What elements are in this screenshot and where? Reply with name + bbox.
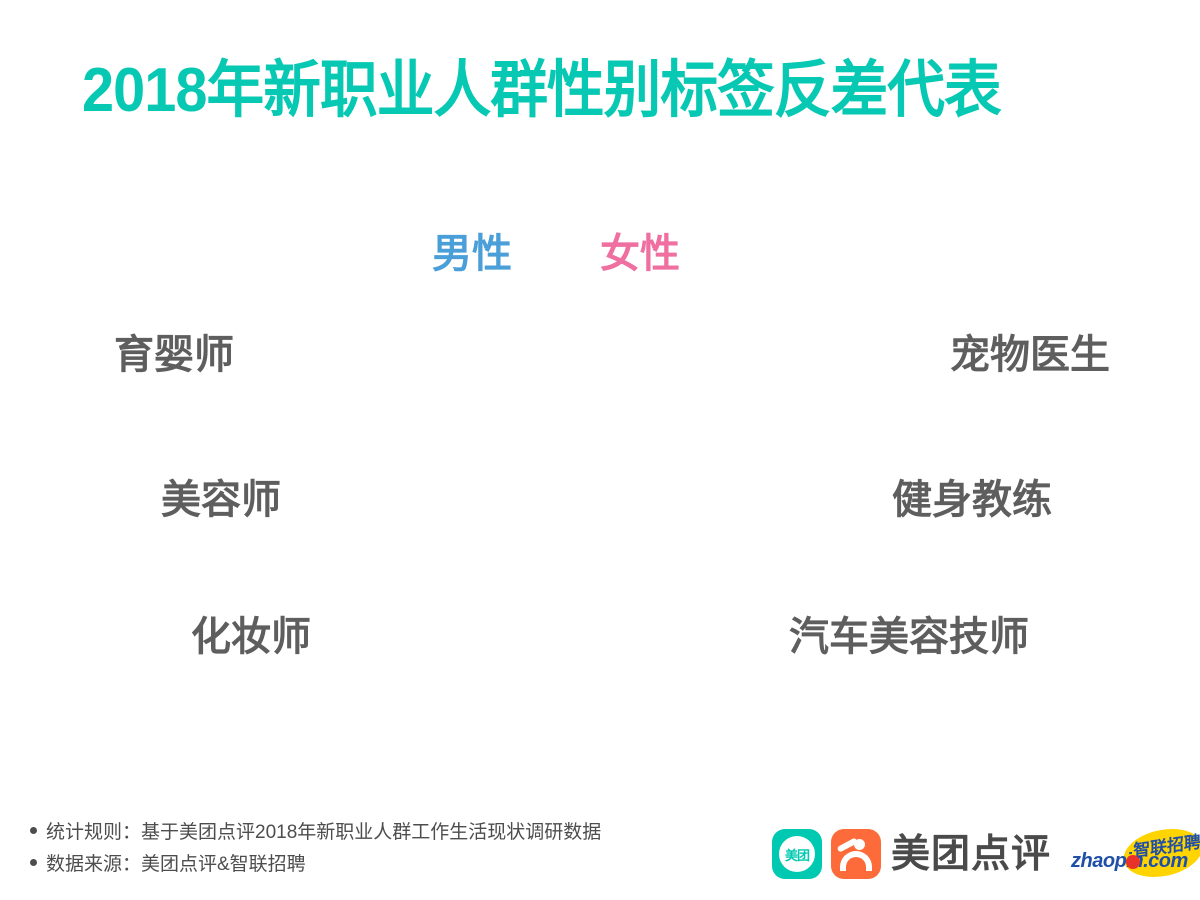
row-label-right-2: 健身教练: [892, 480, 1052, 520]
bar-value-left-2: 29.02%: [293, 482, 419, 519]
footnote-text: 统计规则：基于美团点评2018年新职业人群工作生活现状调研数据: [46, 823, 601, 842]
dianping-logo-icon: [831, 829, 881, 879]
row-label-left-2: 美容师: [161, 480, 281, 520]
chart-row: 26.19% 23.08% 化妆师 汽车美容技师: [315, 587, 783, 687]
bar-value-right-3: 23.08%: [648, 619, 774, 656]
footnote-text: 数据来源：美团点评&智联招聘: [46, 855, 306, 874]
meituan-dianping-wordmark: 美团点评: [891, 835, 1051, 874]
logo-group: 美团 美团点评 智联招聘 zhaopin.com: [772, 822, 1200, 886]
bar-value-right-2: 37.5%: [771, 482, 876, 519]
bar-divider-2: [563, 452, 569, 548]
footnote-item: 统计规则：基于美团点评2018年新职业人群工作生活现状调研数据: [30, 823, 750, 842]
row-label-right-1: 宠物医生: [950, 335, 1110, 375]
chart-rows: 33.33% 42.86% 育婴师 宠物医生 29.02% 37.5% 美容师 …: [0, 0, 1200, 900]
chart-row: 33.33% 42.86% 育婴师 宠物医生: [238, 305, 944, 405]
row-label-right-3: 汽车美容技师: [789, 617, 1029, 657]
infographic-canvas: 2018年新职业人群性别标签反差代表 男性 女性 33.33% 42.86% 育…: [0, 0, 1200, 900]
meituan-logo-icon: 美团: [772, 829, 822, 879]
zhaopin-logo: 智联招聘 zhaopin.com: [1071, 826, 1200, 882]
bar-divider-1: [563, 307, 569, 403]
chart-row: 29.02% 37.5% 美容师 健身教练: [285, 450, 886, 550]
bar-value-right-1: 42.86%: [809, 337, 935, 374]
footnotes: 统计规则：基于美团点评2018年新职业人群工作生活现状调研数据 数据来源：美团点…: [30, 823, 750, 887]
footnote-item: 数据来源：美团点评&智联招聘: [30, 855, 750, 874]
meituan-logo-text: 美团: [779, 836, 815, 872]
bar-value-left-1: 33.33%: [246, 337, 372, 374]
row-label-left-1: 育婴师: [114, 335, 234, 375]
bar-divider-3: [563, 589, 569, 685]
bullet-icon: [30, 859, 37, 866]
zhaopin-dot-icon: [1126, 855, 1140, 869]
row-label-left-3: 化妆师: [191, 617, 311, 657]
bar-value-left-3: 26.19%: [323, 619, 449, 656]
dianping-person-body-icon: [840, 851, 872, 871]
bullet-icon: [30, 827, 37, 834]
